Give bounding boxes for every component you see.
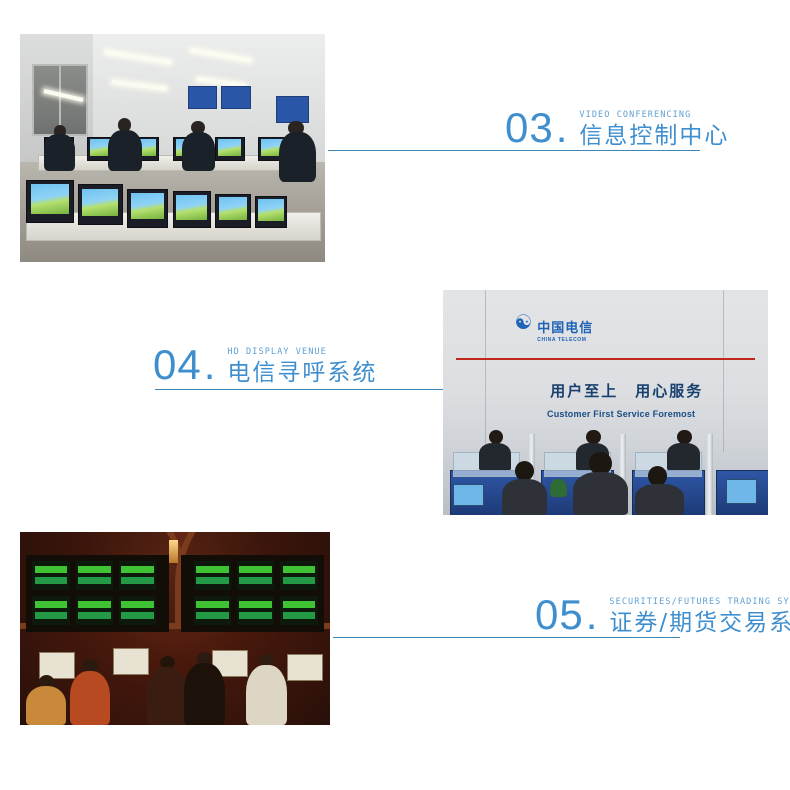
wall-seam	[485, 290, 486, 452]
customer-body	[502, 479, 548, 515]
counter-monitor	[726, 479, 757, 504]
quote-board-cell	[194, 561, 231, 590]
quote-board-cell	[76, 596, 113, 625]
monitor	[26, 180, 74, 223]
trading-terminal	[113, 648, 149, 675]
trader	[184, 663, 224, 725]
caption-03: 03 . VIDEO CONFERENCING 信息控制中心	[505, 108, 729, 148]
staff-head	[677, 430, 692, 445]
monitor	[127, 189, 169, 227]
red-accent-stripe	[456, 358, 755, 360]
staff-head	[489, 430, 504, 445]
monitor	[215, 137, 244, 162]
china-telecom-logo-cn: 中国电信	[537, 317, 593, 336]
quote-board-cell	[32, 596, 69, 625]
trader	[70, 671, 110, 725]
hall-light	[169, 540, 178, 563]
trader	[26, 686, 66, 725]
customer-body	[573, 472, 628, 515]
monitor	[173, 191, 212, 227]
staff-head	[586, 430, 601, 445]
quote-board-cell	[237, 561, 274, 590]
section-english-label-04: HD DISPLAY VENUE	[227, 348, 377, 357]
information-control-center-photo	[20, 34, 325, 262]
counter-divider-post	[706, 434, 713, 515]
section-number-03: 03	[505, 108, 554, 148]
quote-board-cell	[32, 561, 69, 590]
staff-body	[667, 443, 700, 470]
quote-board-cell	[76, 561, 113, 590]
caption-04: 04 . HD DISPLAY VENUE 电信寻呼系统	[153, 345, 377, 385]
wall-seam	[723, 290, 724, 452]
customer-head	[589, 452, 612, 475]
trader	[147, 667, 187, 725]
section-chinese-label-03: 信息控制中心	[579, 125, 729, 148]
wall-display-panel	[276, 96, 309, 123]
quote-board-cell	[280, 561, 317, 590]
connector-line-04	[155, 389, 443, 390]
trading-terminal	[287, 654, 323, 681]
poster-canvas: 03 . VIDEO CONFERENCING 信息控制中心 04 . HD D…	[0, 0, 790, 790]
section-separator-03: .	[556, 108, 568, 148]
telecom-paging-system-photo: ☯ 中国电信 CHINA TELECOM 用户至上 用心服务 Customer …	[443, 290, 768, 515]
quote-board-cell	[119, 596, 156, 625]
monitor	[255, 196, 288, 228]
person	[44, 134, 75, 170]
trader	[246, 665, 286, 725]
section-number-05: 05	[535, 595, 584, 635]
quote-board-cell	[119, 561, 156, 590]
wall-display-panel	[188, 86, 217, 109]
person	[279, 132, 316, 182]
section-english-label-05: SECURITIES/FUTURES TRADING SYSTEM	[609, 598, 790, 607]
section-number-04: 04	[153, 345, 202, 385]
photo-scene-control-center	[20, 34, 325, 262]
quote-board-cell	[194, 596, 231, 625]
connector-line-05	[333, 637, 680, 638]
quote-board-cell	[237, 596, 274, 625]
photo-scene-trading-floor	[20, 532, 330, 725]
customer-body	[635, 484, 684, 516]
hall-slogan-en: Customer First Service Foremost	[547, 409, 695, 419]
staff-body	[479, 443, 512, 470]
china-telecom-logo-en: CHINA TELECOM	[537, 337, 586, 343]
counter-monitor	[453, 484, 484, 506]
china-telecom-logo-icon: ☯	[515, 310, 533, 334]
person	[182, 132, 216, 171]
monitor	[215, 194, 251, 228]
quote-board-cell	[280, 596, 317, 625]
person	[108, 130, 142, 171]
potted-plant	[550, 479, 566, 497]
caption-05: 05 . SECURITIES/FUTURES TRADING SYSTEM 证…	[535, 595, 790, 635]
photo-scene-telecom-hall: ☯ 中国电信 CHINA TELECOM 用户至上 用心服务 Customer …	[443, 290, 768, 515]
wall-display-panel	[221, 86, 250, 109]
monitor	[78, 184, 123, 225]
customer-head	[648, 466, 668, 486]
section-separator-05: .	[586, 595, 598, 635]
hall-slogan-cn: 用户至上 用心服务	[550, 380, 703, 401]
section-chinese-label-05: 证券/期货交易系统	[609, 612, 790, 635]
section-separator-04: .	[204, 345, 216, 385]
section-chinese-label-04: 电信寻呼系统	[227, 362, 377, 385]
securities-futures-trading-photo	[20, 532, 330, 725]
section-english-label-03: VIDEO CONFERENCING	[579, 111, 729, 120]
